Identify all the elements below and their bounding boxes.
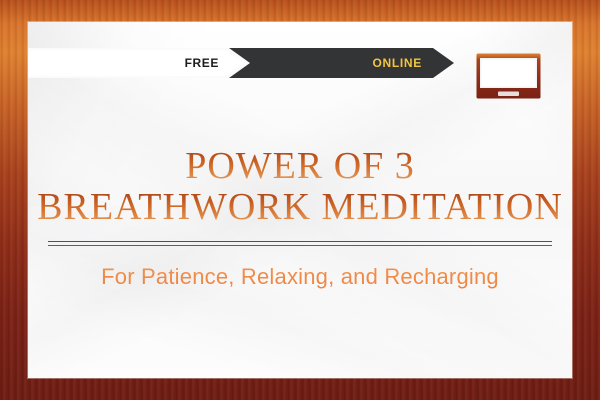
- title-divider: [48, 241, 552, 246]
- poster-frame: FREE ONLINE PO: [0, 0, 600, 400]
- promo-ribbon: FREE ONLINE: [28, 48, 454, 78]
- monitor-icon: [476, 53, 541, 99]
- poster-canvas: FREE ONLINE PO: [28, 22, 572, 378]
- title-line-2: BREATHWORK MEDITATION: [28, 187, 572, 227]
- headline-block: POWER OF 3 BREATHWORK MEDITATION For Pat…: [28, 146, 572, 290]
- monitor-icon-svg: [476, 53, 541, 99]
- subtitle-text: For Patience, Relaxing, and Recharging: [28, 264, 572, 290]
- ribbon-online-label: ONLINE: [264, 48, 434, 78]
- title-line-1: POWER OF 3: [28, 146, 572, 186]
- ribbon-free-label: FREE: [28, 48, 230, 78]
